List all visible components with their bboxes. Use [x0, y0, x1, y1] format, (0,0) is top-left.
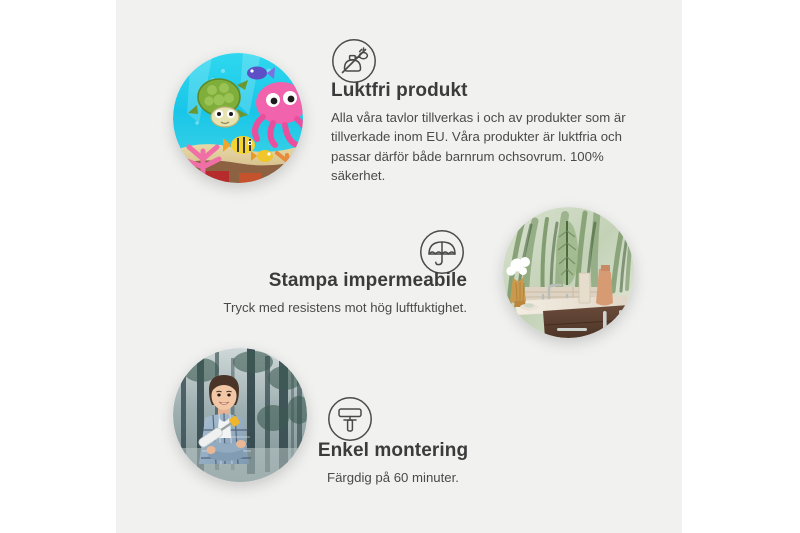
feature-title: Luktfri produkt: [331, 80, 631, 103]
feature-title: Enkel montering: [263, 440, 523, 463]
feature-body: Tryck med resistens mot hög luftfuktighe…: [205, 298, 467, 318]
feature-text-easy-mounting: Enkel montering Färgdig på 60 minuter.: [263, 440, 523, 487]
no-perfume-icon: [331, 38, 377, 84]
feature-image-underwater-cartoon-mural: [173, 53, 303, 183]
image-underwater-cartoon-mural: [173, 53, 303, 183]
feature-body: Alla våra tavlor tillverkas i och av pro…: [331, 108, 631, 186]
image-bathroom-botanical-wallpaper: [503, 207, 634, 338]
umbrella-icon: [419, 229, 465, 275]
feature-text-odour-free: Luktfri produkt Alla våra tavlor tillver…: [331, 80, 631, 186]
feature-body: Färgdig på 60 minuter.: [263, 468, 523, 488]
feature-image-bathroom-botanical-wallpaper: [503, 207, 634, 338]
feature-title: Stampa impermeabile: [205, 270, 467, 293]
paint-roller-icon: [327, 396, 373, 442]
feature-text-waterproof-print: Stampa impermeabile Tryck med resistens …: [205, 270, 467, 317]
product-feature-banner: Luktfri produkt Alla våra tavlor tillver…: [0, 0, 800, 533]
